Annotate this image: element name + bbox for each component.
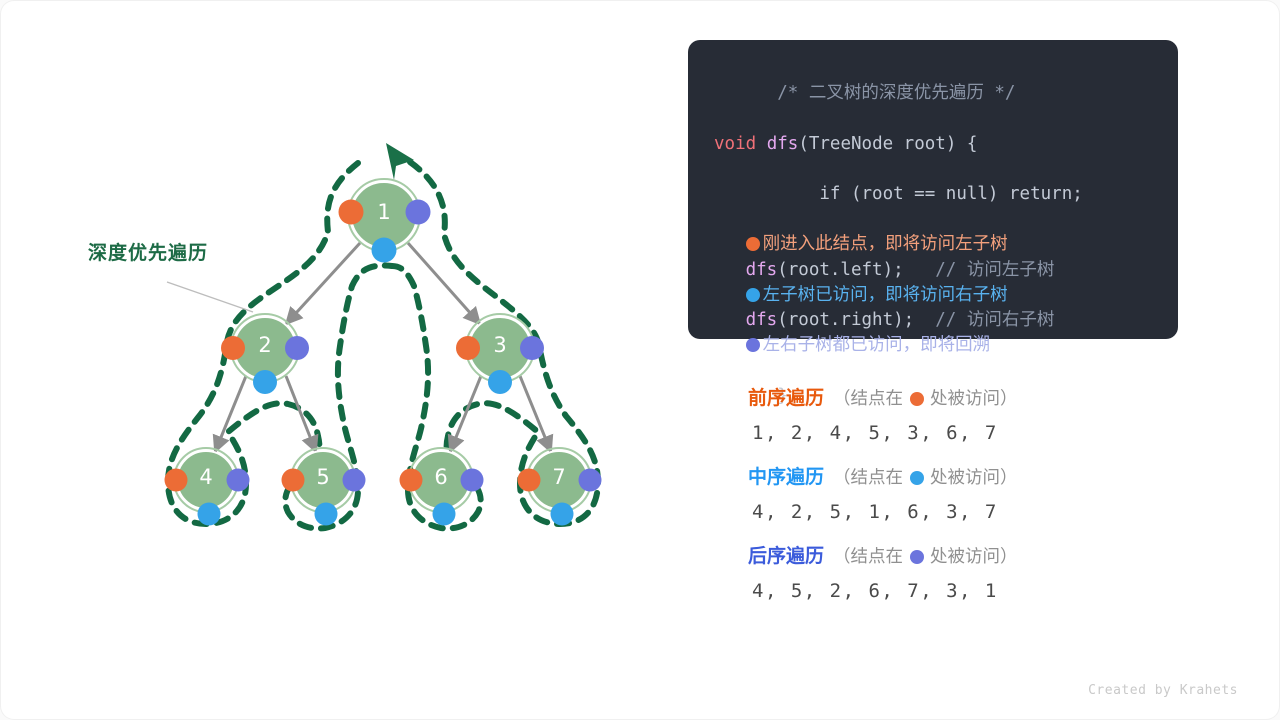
- preorder-marker-icon: [746, 237, 760, 251]
- annotation-leader-line: [167, 282, 253, 312]
- postorder-note-suffix: 处被访问）: [930, 546, 1018, 566]
- postorder-legend-dot-icon: [910, 550, 924, 564]
- code-line-note-orange: 刚进入此结点，即将访问左子树: [714, 232, 1152, 257]
- preorder-block: 前序遍历（结点在处被访问） 1, 2, 4, 5, 3, 6, 7: [748, 382, 1178, 452]
- inorder-note-prefix: （结点在: [833, 467, 903, 487]
- inorder-note-suffix: 处被访问）: [930, 467, 1018, 487]
- preorder-heading: 前序遍历（结点在处被访问）: [748, 382, 1178, 415]
- tree-node-2[interactable]: [221, 314, 309, 394]
- postorder-title: 后序遍历: [748, 546, 824, 567]
- edge-2-5: [286, 376, 316, 452]
- code-indent-3: [714, 285, 746, 305]
- preorder-sequence: 1, 2, 4, 5, 3, 6, 7: [748, 415, 1178, 452]
- binary-tree-diagram: 1 2 3 4 5 6 7 深度优先遍历: [0, 0, 680, 720]
- figure-canvas: 1 2 3 4 5 6 7 深度优先遍历 /* 二叉树的深度优先遍历 */ vo…: [0, 0, 1280, 720]
- code-indent-1: [714, 234, 746, 254]
- code-call-left-comment-space: [904, 260, 936, 280]
- code-call-right-comment: // 访问右子树: [935, 310, 1054, 330]
- code-keyword-void: void: [714, 134, 756, 154]
- tree-svg: [0, 0, 680, 720]
- postorder-marker-icon: [746, 338, 760, 352]
- code-comment-text: /* 二叉树的深度优先遍历 */: [777, 83, 1015, 103]
- code-fn-dfs-decl: dfs: [767, 134, 799, 154]
- node-7-exit-dot: [579, 469, 602, 492]
- code-note-orange-text: 刚进入此结点，即将访问左子树: [763, 234, 1008, 254]
- tree-nodes: [165, 179, 602, 526]
- node-2-exit-dot: [285, 336, 309, 360]
- postorder-sequence: 4, 5, 2, 6, 7, 3, 1: [748, 573, 1178, 610]
- code-call-left-comment: // 访问左子树: [935, 260, 1054, 280]
- tree-node-3[interactable]: [456, 314, 544, 394]
- node-3-mid-dot: [488, 370, 512, 394]
- code-call-right-comment-space: [914, 310, 935, 330]
- node-1-enter-dot: [339, 200, 364, 225]
- node-6-enter-dot: [400, 469, 423, 492]
- node-3-enter-dot: [456, 336, 480, 360]
- code-line-nullcheck: if (root == null) return;: [714, 157, 1152, 233]
- code-call-right-rest: (root.right);: [777, 310, 914, 330]
- code-indent-5: [714, 335, 746, 355]
- code-line-note-indigo: 左右子树都已访问，即将回溯: [714, 333, 1152, 358]
- postorder-heading: 后序遍历（结点在处被访问）: [748, 540, 1178, 573]
- postorder-note-prefix: （结点在: [833, 546, 903, 566]
- node-2-enter-dot: [221, 336, 245, 360]
- node-7-enter-dot: [518, 469, 541, 492]
- code-call-left-rest: (root.left);: [777, 260, 903, 280]
- code-indent-4: [714, 310, 746, 330]
- code-indent-2: [714, 260, 746, 280]
- code-fn-dfs-right: dfs: [746, 310, 778, 330]
- node-4-enter-dot: [165, 469, 188, 492]
- code-line-comment: /* 二叉树的深度优先遍历 */: [714, 56, 1152, 132]
- node-5-enter-dot: [282, 469, 305, 492]
- code-nullcheck-text: if (root == null) return;: [777, 184, 1083, 204]
- credit-text: Created by Krahets: [1088, 683, 1238, 698]
- inorder-title: 中序遍历: [748, 467, 824, 488]
- code-space-1: [756, 134, 767, 154]
- inorder-heading: 中序遍历（结点在处被访问）: [748, 461, 1178, 494]
- code-block: /* 二叉树的深度优先遍历 */ void dfs(TreeNode root)…: [688, 40, 1178, 339]
- traversal-results: 前序遍历（结点在处被访问） 1, 2, 4, 5, 3, 6, 7 中序遍历（结…: [748, 382, 1178, 619]
- code-fn-dfs-left: dfs: [746, 260, 778, 280]
- node-5-exit-dot: [343, 469, 366, 492]
- inorder-sequence: 4, 2, 5, 1, 6, 3, 7: [748, 494, 1178, 531]
- code-line-call-left: dfs(root.left); // 访问左子树: [714, 258, 1152, 283]
- node-1-mid-dot: [372, 238, 397, 263]
- inorder-marker-icon: [746, 288, 760, 302]
- code-note-cyan-text: 左子树已访问，即将访问右子树: [763, 285, 1008, 305]
- node-5-mid-dot: [315, 503, 338, 526]
- node-4-mid-dot: [198, 503, 221, 526]
- node-2-mid-dot: [253, 370, 277, 394]
- node-6-mid-dot: [433, 503, 456, 526]
- preorder-note-prefix: （结点在: [833, 388, 903, 408]
- preorder-note-suffix: 处被访问）: [930, 388, 1018, 408]
- dfs-annotation-label: 深度优先遍历: [88, 238, 208, 265]
- code-signature-rest: (TreeNode root) {: [798, 134, 977, 154]
- code-line-note-cyan: 左子树已访问，即将访问右子树: [714, 283, 1152, 308]
- node-6-exit-dot: [461, 469, 484, 492]
- node-1-exit-dot: [406, 200, 431, 225]
- preorder-title: 前序遍历: [748, 388, 824, 409]
- inorder-block: 中序遍历（结点在处被访问） 4, 2, 5, 1, 6, 3, 7: [748, 461, 1178, 531]
- edge-1-3: [408, 243, 480, 324]
- inorder-legend-dot-icon: [910, 471, 924, 485]
- edge-1-2: [286, 243, 360, 324]
- code-line-call-right: dfs(root.right); // 访问右子树: [714, 308, 1152, 333]
- node-4-exit-dot: [227, 469, 250, 492]
- code-note-indigo-text: 左右子树都已访问，即将回溯: [763, 335, 991, 355]
- postorder-block: 后序遍历（结点在处被访问） 4, 5, 2, 6, 7, 3, 1: [748, 540, 1178, 610]
- node-3-exit-dot: [520, 336, 544, 360]
- code-line-signature: void dfs(TreeNode root) {: [714, 132, 1152, 157]
- node-7-mid-dot: [551, 503, 574, 526]
- edge-3-6: [450, 376, 481, 452]
- preorder-legend-dot-icon: [910, 392, 924, 406]
